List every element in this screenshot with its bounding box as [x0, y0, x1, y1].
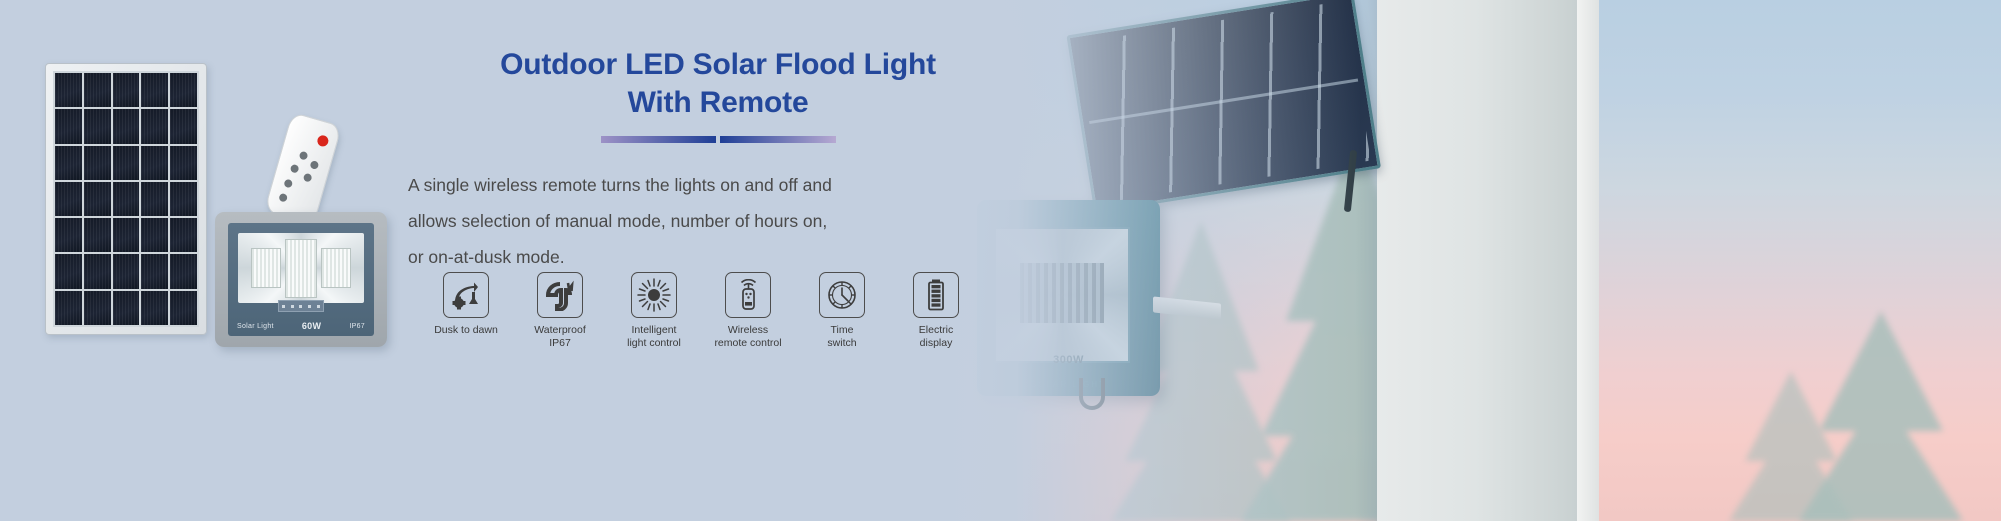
feature-label-line-1: Intelligent [632, 324, 677, 336]
feature-label-line-1: Dusk to dawn [434, 324, 498, 336]
waterproof-icon [537, 272, 583, 318]
description-text: A single wireless remote turns the light… [408, 167, 1028, 276]
sun-light-control-icon [631, 272, 677, 318]
title-divider [601, 136, 836, 143]
feature-light-control: Intelligent light control [618, 272, 690, 350]
flood-light-face: Solar Light 60W IP67 [228, 223, 374, 336]
product-banner: 300W SOLAR LIGHT [0, 0, 2001, 521]
building-wall [1377, 0, 1595, 521]
feature-label: Wireless remote control [712, 324, 784, 350]
dusk-to-dawn-icon [443, 272, 489, 318]
pine-tree [1721, 371, 1861, 521]
page-title: Outdoor LED Solar Flood Light With Remot… [408, 46, 1028, 123]
flood-light-indicator-panel [278, 300, 324, 312]
banner-content: Outdoor LED Solar Flood Light With Remot… [408, 0, 1028, 521]
clock-icon [819, 272, 865, 318]
feature-label-line-1: Wireless [728, 324, 768, 336]
remote-button [278, 193, 288, 203]
product-flood-light: Solar Light 60W IP67 [215, 212, 387, 347]
feature-label: Intelligent light control [618, 324, 690, 350]
flood-light-wattage: 60W [302, 321, 321, 331]
remote-control-icon [725, 272, 771, 318]
feature-label-line-1: Time [831, 324, 854, 336]
feature-label-line-2: display [920, 337, 953, 349]
feature-label-line-2: switch [827, 337, 856, 349]
flood-light-lens [238, 233, 364, 303]
feature-label-line-1: Electric [919, 324, 953, 336]
feature-dusk-to-dawn: Dusk to dawn [430, 272, 502, 337]
feature-label-line-2: light control [627, 337, 681, 349]
feature-icon-list: Dusk to dawn Waterproof IP67 [430, 272, 972, 350]
headline-line-1: Outdoor LED Solar Flood Light [500, 48, 936, 81]
flood-light-brand: Solar Light [237, 323, 274, 330]
feature-label-line-1: Waterproof [534, 324, 586, 336]
divider-segment-right [720, 136, 836, 143]
solar-cell-grid [53, 71, 199, 327]
remote-button [290, 164, 300, 174]
feature-remote-control: Wireless remote control [712, 272, 784, 350]
product-remote-control [264, 112, 342, 225]
description-line-2: allows selection of manual mode, number … [408, 211, 827, 231]
building-wall-edge [1577, 0, 1599, 521]
product-solar-panel [45, 63, 207, 335]
remote-button [303, 173, 313, 183]
feature-label: Time switch [806, 324, 878, 350]
remote-power-button [316, 134, 330, 148]
flood-light-label-row: Solar Light 60W IP67 [228, 321, 374, 331]
divider-segment-left [601, 136, 717, 143]
description-line-1: A single wireless remote turns the light… [408, 175, 832, 195]
remote-button [309, 160, 319, 170]
feature-time-switch: Time switch [806, 272, 878, 350]
feature-label: Dusk to dawn [430, 324, 502, 337]
description-line-3: or on-at-dusk mode. [408, 247, 565, 267]
feature-label: Waterproof IP67 [524, 324, 596, 350]
remote-button [283, 179, 293, 189]
battery-icon [913, 272, 959, 318]
scene-photo: 300W SOLAR LIGHT [941, 0, 2001, 521]
feature-label-line-2: remote control [714, 337, 781, 349]
feature-label-line-2: IP67 [549, 337, 571, 349]
headline-line-2: With Remote [628, 86, 809, 119]
feature-electric-display: Electric display [900, 272, 972, 350]
remote-button [299, 151, 309, 161]
feature-waterproof: Waterproof IP67 [524, 272, 596, 350]
feature-label: Electric display [900, 324, 972, 350]
flood-light-rating: IP67 [349, 323, 365, 330]
